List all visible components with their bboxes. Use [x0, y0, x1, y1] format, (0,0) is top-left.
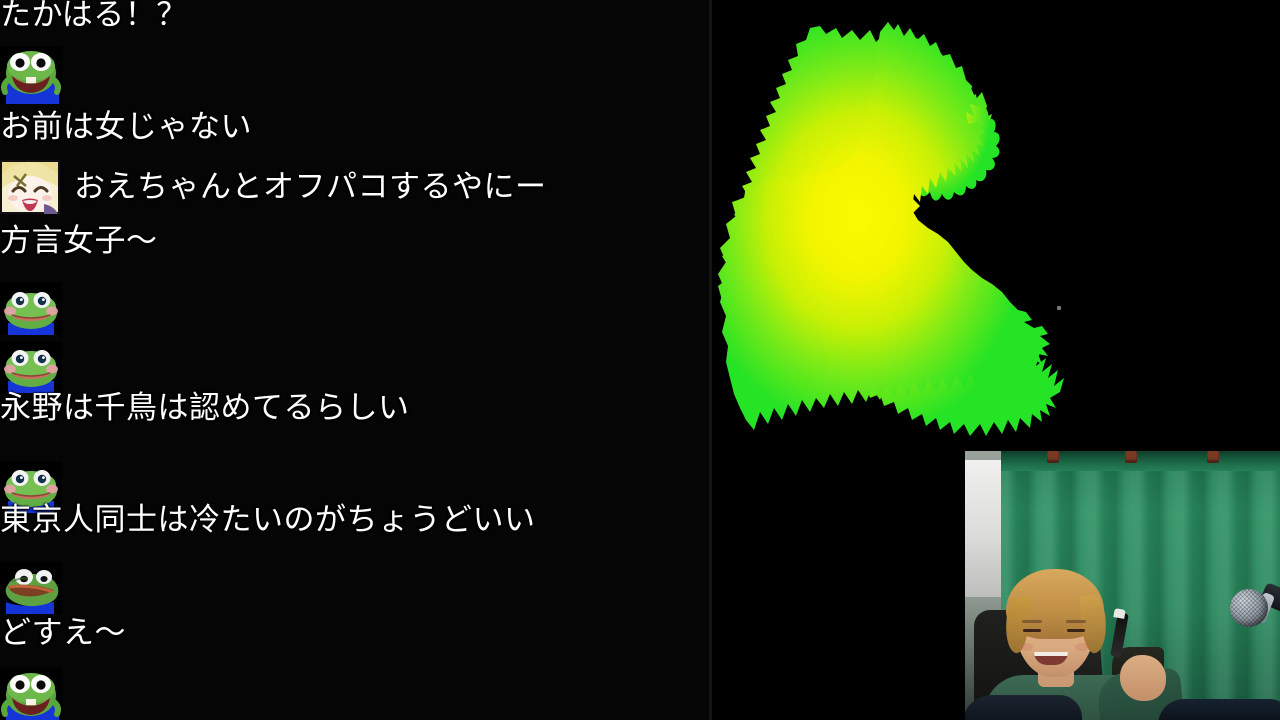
webcam-frame-top	[962, 447, 1280, 451]
streamer-eyebrow	[1022, 620, 1042, 623]
chat-panel[interactable]: たかはる！？	[0, 0, 710, 720]
chat-message-text: 東京人同士は冷たいのがちょうどいい	[0, 501, 536, 539]
wall-panel-edge	[965, 451, 1001, 460]
stream-overlay-stage: たかはる！？	[0, 0, 1280, 720]
streamer-webcam-overlay[interactable]	[962, 447, 1280, 720]
curtain-rail	[1001, 451, 1280, 471]
curtain-clip-icon	[1207, 451, 1219, 463]
streamer-cheek	[1019, 643, 1033, 651]
chat-message-text: 永野は千鳥は認めてるらしい	[0, 389, 410, 427]
pepe-comfy-emote-icon	[0, 283, 62, 335]
pepe-comfy-emote-icon	[0, 341, 62, 393]
pepe-sad-emote-icon	[0, 562, 62, 614]
foreground-shadow-left	[962, 695, 1082, 720]
mie-silhouette	[718, 22, 1050, 430]
chat-message-text: おえちゃんとオフパコするやにー	[60, 168, 547, 206]
map-islet	[1057, 306, 1061, 310]
streamer-eye	[1023, 629, 1041, 632]
webcam-frame-left	[962, 447, 965, 720]
chat-message[interactable]	[0, 562, 710, 614]
pepe-happy-emote-icon	[0, 668, 62, 720]
streamer-eye	[1067, 629, 1085, 632]
curtain-clip-icon	[1125, 451, 1137, 463]
vape-pen-tip-icon	[1113, 608, 1125, 619]
chat-message-text: どすえ〜	[0, 614, 126, 652]
chat-message[interactable]: どすえ〜	[0, 614, 710, 652]
chat-message-text: 方言女子〜	[0, 222, 158, 260]
pepe-happy-emote-icon	[0, 46, 62, 104]
streamer-hand	[1120, 655, 1166, 701]
chat-message[interactable]: 永野は千鳥は認めてるらしい	[0, 389, 710, 427]
chat-message[interactable]: たかはる！？	[0, 0, 710, 34]
foreground-shadow-right	[1158, 699, 1280, 720]
chat-message-text: お前は女じゃない	[0, 108, 252, 146]
anime-girl-laugh-emote-icon	[0, 160, 60, 214]
chat-message[interactable]	[0, 668, 710, 720]
chat-message-text: たかはる！？	[0, 0, 188, 34]
streamer-eyebrow	[1066, 620, 1086, 623]
curtain-clip-icon	[1047, 451, 1059, 463]
chat-message[interactable]	[0, 46, 710, 104]
chat-message[interactable]	[0, 283, 710, 335]
wall-panel	[965, 451, 1001, 601]
chat-message[interactable]: 東京人同士は冷たいのがちょうどいい	[0, 501, 710, 539]
chat-message[interactable]	[0, 341, 710, 393]
microphone-grille	[1230, 589, 1268, 627]
chat-message[interactable]: お前は女じゃない	[0, 108, 710, 146]
streamer-cheek	[1075, 643, 1089, 651]
chat-message[interactable]: 方言女子〜	[0, 222, 710, 260]
chat-message[interactable]: おえちゃんとオフパコするやにー	[0, 160, 710, 214]
